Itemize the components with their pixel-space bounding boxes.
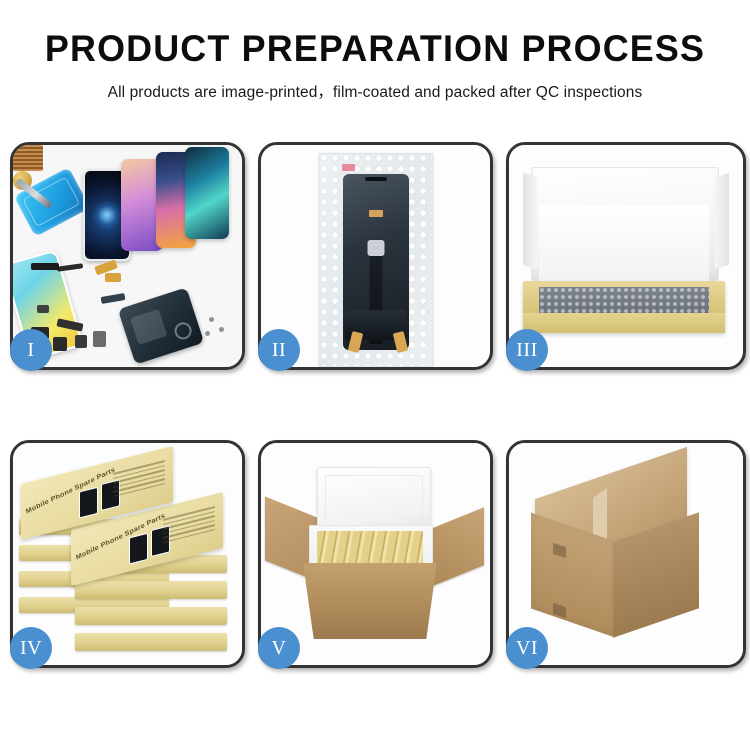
step-badge-5: V [258, 627, 300, 669]
small-part-4 [93, 331, 106, 347]
step-image-6 [509, 443, 743, 665]
bubble-wrap-bag [319, 153, 433, 367]
step-badge-6: VI [506, 627, 548, 669]
step-image-2 [261, 145, 490, 367]
pink-label [342, 164, 355, 171]
yellow-tape-center [369, 210, 383, 217]
step-card-4: Mobile Phone Spare Parts Mobile Phone Sp… [10, 440, 245, 668]
stacked-box-7 [75, 607, 227, 625]
flex-cable-4 [105, 273, 121, 282]
product-preparation-page: PRODUCT PREPARATION PROCESS All products… [0, 0, 750, 750]
box-lid-flap-right [715, 173, 729, 270]
page-title: PRODUCT PREPARATION PROCESS [11, 30, 739, 67]
screen-connector [367, 240, 384, 256]
carton-body [303, 563, 437, 639]
foam-sheet [539, 205, 709, 283]
screw-3 [205, 331, 210, 336]
step-image-3 [509, 145, 743, 367]
lcd-screen [343, 174, 409, 350]
bubble-wrapped-contents [539, 287, 709, 313]
stacked-box-6 [75, 581, 227, 599]
box-screen-image-1 [129, 533, 148, 565]
screw-2 [219, 327, 224, 332]
process-steps-grid: I II [10, 142, 745, 668]
small-part-5 [37, 305, 49, 313]
box-stack: Mobile Phone Spare Parts Mobile Phone Sp… [19, 459, 237, 655]
flex-cable-6 [101, 293, 126, 304]
step-card-3: III [506, 142, 746, 370]
box-spec-lines-front [163, 506, 215, 546]
stacked-box-8 [75, 633, 227, 651]
copper-pad-grid [13, 145, 43, 171]
box-spec-lines-back [113, 460, 165, 500]
flex-cable-2 [31, 263, 59, 270]
screw-1 [209, 317, 214, 322]
step-card-6: VI [506, 440, 746, 668]
small-part-3 [75, 335, 87, 348]
page-subtitle: All products are image-printed，film-coat… [0, 80, 750, 102]
kraft-box-front [523, 313, 725, 333]
step-badge-1: I [10, 329, 52, 371]
step-image-4: Mobile Phone Spare Parts Mobile Phone Sp… [13, 443, 242, 665]
phone-screen-teal [185, 147, 229, 239]
page-header: PRODUCT PREPARATION PROCESS All products… [0, 0, 750, 102]
step-image-5 [261, 443, 490, 665]
box-screen-image-3 [79, 487, 98, 519]
step-image-1 [13, 145, 242, 367]
step-card-2: II [258, 142, 493, 370]
phone-back-housing [118, 287, 204, 364]
step-badge-3: III [506, 329, 548, 371]
step-badge-2: II [258, 329, 300, 371]
step-card-1: I [10, 142, 245, 370]
step-card-5: V [258, 440, 493, 668]
small-part-2 [53, 337, 67, 351]
screen-notch [365, 177, 387, 181]
step-badge-4: IV [10, 627, 52, 669]
box-lid-flap-left [523, 173, 537, 270]
